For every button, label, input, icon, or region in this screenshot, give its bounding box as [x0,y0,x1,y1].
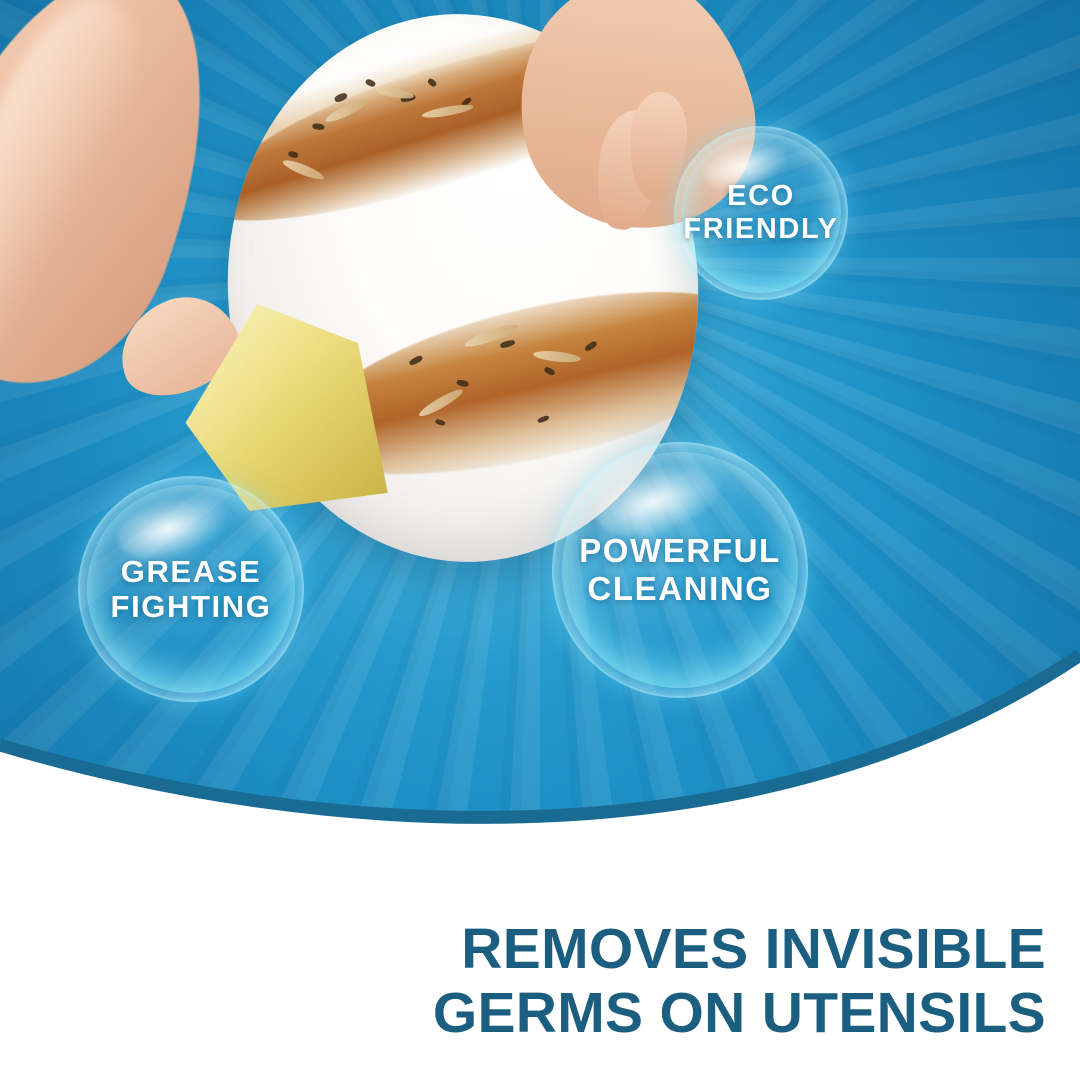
hero-curve-border [0,0,1080,860]
feature-bubble-eco-line1: ECO [727,180,795,212]
feature-bubble-power-line1: POWERFUL [579,532,781,569]
feature-bubble-powerful-cleaning[interactable]: POWERFULCLEANING [552,442,808,698]
feature-bubble-grease-line2: FIGHTING [111,589,272,624]
headline: REMOVES INVISIBLE GERMS ON UTENSILS [406,918,1046,1046]
feature-bubble-grease-line1: GREASE [121,554,262,589]
feature-bubble-eco-label: ECOFRIENDLY [683,180,838,246]
headline-line-1: REMOVES INVISIBLE [461,917,1046,981]
feature-bubble-grease-fighting[interactable]: GREASEFIGHTING [78,476,304,702]
feature-bubble-power-line2: CLEANING [587,570,772,607]
feature-bubble-eco-line2: FRIENDLY [683,213,838,245]
feature-bubble-grease-fighting-label: GREASEFIGHTING [111,554,272,625]
promo-banner: ECOFRIENDLY POWERFULCLEANING GREASEFIGHT… [0,0,1080,1080]
feature-bubble-eco[interactable]: ECOFRIENDLY [674,126,848,300]
headline-line-2: GERMS ON UTENSILS [406,982,1046,1046]
feature-bubble-powerful-cleaning-label: POWERFULCLEANING [579,532,781,607]
